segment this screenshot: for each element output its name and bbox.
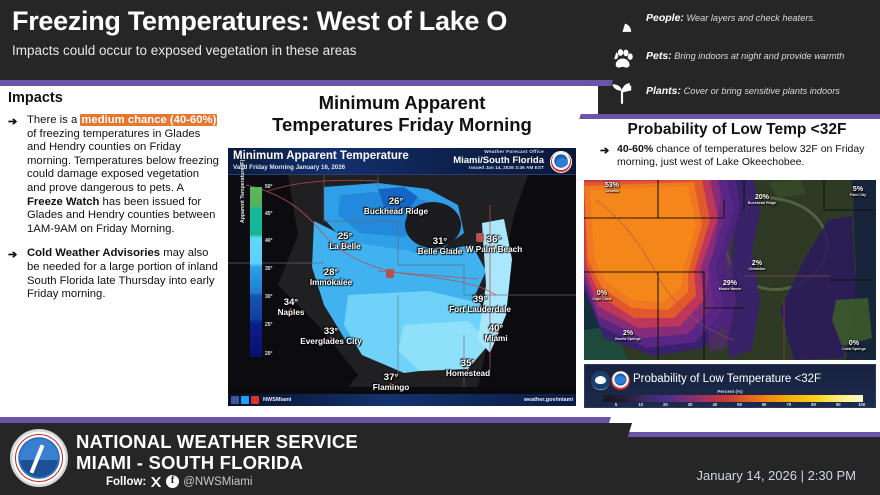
tip-label-pets: Pets:: [646, 50, 672, 62]
probability-legend-title: Probability of Low Temperature <32F: [633, 373, 821, 385]
bullet-arrow-icon: ➔: [600, 144, 609, 157]
map-footer-handle: NWSMiami: [263, 397, 291, 403]
prob-tick-10: 10: [638, 402, 643, 407]
tip-row-pets: Pets: Bring indoors at night and provide…: [604, 41, 880, 79]
prob-tick-100: 100: [858, 402, 865, 407]
center-title-line1: Minimum Apparent: [228, 92, 576, 114]
tip-label-people: People:: [646, 12, 684, 24]
prob-place: Cape Coral: [593, 297, 612, 302]
city-temp: 39°: [449, 295, 511, 305]
impacts-bullet-2-text: Cold Weather Advisories may also be need…: [27, 247, 220, 301]
map-header-bar: Minimum Apparent Temperature Valid Frida…: [228, 148, 576, 175]
infographic-root: Freezing Temperatures: West of Lake O Im…: [0, 0, 880, 495]
colorbar-tick-20: 20°: [265, 351, 273, 357]
twitter-icon[interactable]: [241, 396, 249, 404]
map-footer-url[interactable]: weather.gov/miami: [524, 397, 573, 403]
probability-low-temp-map[interactable]: 53% Arcadia 5% Palm City 20% Buckhead Ri…: [584, 180, 876, 360]
prob-place: Arcadia: [605, 189, 619, 194]
colorbar-tick-25: 25°: [265, 322, 273, 328]
prob-value: 5%: [850, 186, 866, 193]
city-label-naples: 34° Naples: [278, 298, 305, 317]
follow-label: Follow:: [106, 476, 146, 488]
city-label-miami: 40° Miami: [484, 324, 507, 343]
prob-label-cape-coral: 0% Cape Coral: [593, 290, 612, 302]
facebook-icon[interactable]: [231, 396, 239, 404]
impacts-heading: Impacts: [8, 90, 220, 106]
prob-tick-50: 50: [737, 402, 742, 407]
city-temp: 37°: [373, 373, 409, 383]
impacts-b1-highlight: medium chance (40-60%): [80, 114, 217, 126]
tip-text-pets: Pets: Bring indoors at night and provide…: [646, 50, 880, 62]
tip-body-people: Wear layers and check heaters.: [687, 13, 816, 23]
city-temp: 34°: [278, 298, 305, 308]
right-panel-bullet: ➔ 40-60% chance of temperatures below 32…: [600, 143, 874, 168]
youtube-icon[interactable]: [251, 396, 259, 404]
prob-value: 0%: [842, 340, 866, 347]
prob-place: Coral Springs: [842, 347, 866, 352]
prob-label-coral-springs: 0% Coral Springs: [842, 340, 866, 352]
tip-text-people: People: Wear layers and check heaters.: [646, 12, 880, 24]
prob-place: Palm City: [850, 193, 866, 198]
city-label-homestead: 35° Homestead: [446, 359, 490, 378]
nws-seal-icon: [611, 371, 630, 390]
prob-place: Bonita Springs: [615, 337, 641, 342]
city-temp: 36°: [466, 235, 522, 245]
city-temp: 25°: [329, 232, 360, 242]
tip-body-plants: Cover or bring sensitive plants indoors: [684, 86, 840, 96]
prob-tick-80: 80: [811, 402, 816, 407]
center-map-title: Minimum Apparent Temperatures Friday Mor…: [228, 92, 576, 136]
right-bullet-text: 40-60% chance of temperatures below 32F …: [617, 143, 874, 168]
city-label-immokalee: 28° Immokalee: [310, 268, 352, 287]
prob-value: 2%: [615, 330, 641, 337]
city-dot-icon: [330, 337, 332, 339]
city-temp: 28°: [310, 268, 352, 278]
city-label-buckhead-ridge: 26° Buckhead Ridge: [364, 197, 428, 216]
prob-place: Clewiston: [749, 267, 766, 272]
city-label-fort-lauderdale: 39° Fort Lauderdale: [449, 295, 511, 314]
banner-left-panel: NATIONAL WEATHER SERVICE MIAMI - SOUTH F…: [0, 423, 600, 495]
right-bullet-bold: 40-60%: [617, 143, 653, 155]
impacts-section: Impacts ➔ There is a medium chance (40-6…: [8, 90, 220, 313]
accent-bar-bottom: [0, 417, 598, 423]
nws-seal-icon: [550, 151, 572, 173]
follow-row: Follow: @NWSMiami: [106, 475, 252, 488]
city-temp: 40°: [484, 324, 507, 334]
right-bullet-body: chance of temperatures below 32F on Frid…: [617, 143, 864, 168]
header-right-panel: People: Wear layers and check heaters. P…: [598, 0, 880, 114]
map-header-valid: Valid Friday Morning January 16, 2026: [233, 164, 345, 171]
probability-legend: Probability of Low Temperature <32F Perc…: [584, 364, 876, 408]
prob-tick-30: 30: [688, 402, 693, 407]
map-canvas: Apparent Temperature (F) 50° 45° 40° 35°…: [228, 175, 576, 387]
city-label-w-palm-beach: 36° W Palm Beach: [466, 235, 522, 254]
tip-text-plants: Plants: Cover or bring sensitive plants …: [646, 85, 880, 97]
tip-body-pets: Bring indoors at night and provide warmt…: [674, 51, 844, 61]
colorbar-tick-35: 35°: [265, 266, 273, 272]
city-dot-icon: [495, 334, 497, 336]
city-label-belle-glade: 31° Belle Glade: [418, 237, 463, 256]
probability-legend-ticks: 5 10 20 30 40 50 60 70 80 90 100: [603, 402, 863, 409]
center-title-line2: Temperatures Friday Morning: [228, 114, 576, 136]
prob-value: 53%: [605, 182, 619, 189]
minimum-apparent-temperature-map[interactable]: Minimum Apparent Temperature Valid Frida…: [228, 148, 576, 406]
map-header-wfo: Weather Forecast Office Miami/South Flor…: [453, 150, 544, 171]
impacts-b2-bold: Cold Weather Advisories: [27, 247, 160, 259]
probability-colorbar: [603, 395, 863, 402]
colorbar-tick-30: 30°: [265, 294, 273, 300]
prob-tick-70: 70: [787, 402, 792, 407]
impacts-b1-bold: Freeze Watch: [27, 196, 99, 208]
prob-label-buckhead-ridge: 20% Buckhead Ridge: [748, 194, 776, 206]
impacts-b1-post: of freezing temperatures in Glades and H…: [27, 128, 219, 194]
prob-tick-40: 40: [712, 402, 717, 407]
bullet-arrow-icon: ➔: [8, 115, 17, 128]
city-temp: 26°: [364, 197, 428, 207]
impacts-bullet-1-text: There is a medium chance (40-60%) of fre…: [27, 114, 220, 236]
map-footer-bar: NWSMiami weather.gov/miami: [228, 394, 576, 406]
prob-label-palm-city: 5% Palm City: [850, 186, 866, 198]
city-temp: 31°: [418, 237, 463, 247]
accent-bar-right: [594, 114, 880, 119]
city-label-everglades-city: 33° Everglades City: [300, 327, 361, 346]
social-handle[interactable]: @NWSMiami: [183, 476, 252, 488]
city-temp: 35°: [446, 359, 490, 369]
nws-logo-icon: [10, 429, 68, 487]
city-dot-icon: [479, 305, 481, 307]
tip-label-plants: Plants:: [646, 85, 681, 97]
wfo-line3: Issued Jan 14, 2026 3:46 AM EST: [453, 166, 544, 171]
prob-label-clewiston: 2% Clewiston: [749, 260, 766, 272]
header-left-panel: Freezing Temperatures: West of Lake O Im…: [0, 0, 598, 80]
temperature-colorbar: [250, 187, 262, 357]
impacts-bullet-1: ➔ There is a medium chance (40-60%) of f…: [8, 114, 220, 236]
colorbar-tick-40: 40°: [265, 238, 273, 244]
colorbar-axis-label: Apparent Temperature (F): [240, 160, 246, 223]
page-subtitle: Impacts could occur to exposed vegetatio…: [12, 43, 356, 58]
prob-tick-90: 90: [836, 402, 841, 407]
city-dot-icon: [344, 242, 346, 244]
city-label-flamingo: 37° Flamingo: [373, 373, 409, 392]
colorbar-tick-45: 45°: [265, 211, 273, 217]
prob-value: 29%: [719, 280, 742, 287]
page-title: Freezing Temperatures: West of Lake O: [12, 6, 507, 37]
prob-label-arcadia: 53% Arcadia: [605, 182, 619, 194]
right-panel-title: Probability of Low Temp <32F: [594, 121, 880, 139]
prob-label-bonita-springs: 2% Bonita Springs: [615, 330, 641, 342]
map-header-title: Minimum Apparent Temperature: [233, 150, 409, 162]
impacts-bullet-2: ➔ Cold Weather Advisories may also be ne…: [8, 247, 220, 301]
city-label-la-belle: 25° La Belle: [329, 232, 360, 251]
prob-value: 0%: [593, 290, 612, 297]
prob-tick-60: 60: [762, 402, 767, 407]
prob-value: 2%: [749, 260, 766, 267]
colorbar-tick-50: 50°: [265, 184, 273, 190]
banner-line1: NATIONAL WEATHER SERVICE: [76, 431, 358, 453]
tip-row-plants: Plants: Cover or bring sensitive plants …: [604, 76, 880, 114]
timestamp: January 14, 2026 | 2:30 PM: [697, 468, 856, 483]
accent-bar-top: [0, 80, 600, 86]
tip-row-people: People: Wear layers and check heaters.: [604, 3, 880, 41]
city-temp: 33°: [300, 327, 361, 337]
wfo-line2: Miami/South Florida: [453, 155, 544, 166]
bullet-arrow-icon: ➔: [8, 248, 17, 261]
noaa-seal-icon: [591, 371, 610, 390]
prob-value: 20%: [748, 194, 776, 201]
probability-legend-unit: Percent (%): [585, 389, 875, 394]
x-twitter-icon[interactable]: [150, 476, 162, 488]
map-footer-social[interactable]: NWSMiami: [231, 396, 291, 404]
facebook-icon[interactable]: [166, 475, 179, 488]
prob-label-moore-haven: 29% Moore Haven: [719, 280, 742, 292]
impacts-b1-pre: There is a: [27, 114, 80, 126]
prob-place: Moore Haven: [719, 287, 742, 292]
prob-tick-20: 20: [663, 402, 668, 407]
prob-tick-5: 5: [615, 402, 617, 407]
banner-line2: MIAMI - SOUTH FLORIDA: [76, 452, 303, 474]
prob-place: Buckhead Ridge: [748, 201, 776, 206]
